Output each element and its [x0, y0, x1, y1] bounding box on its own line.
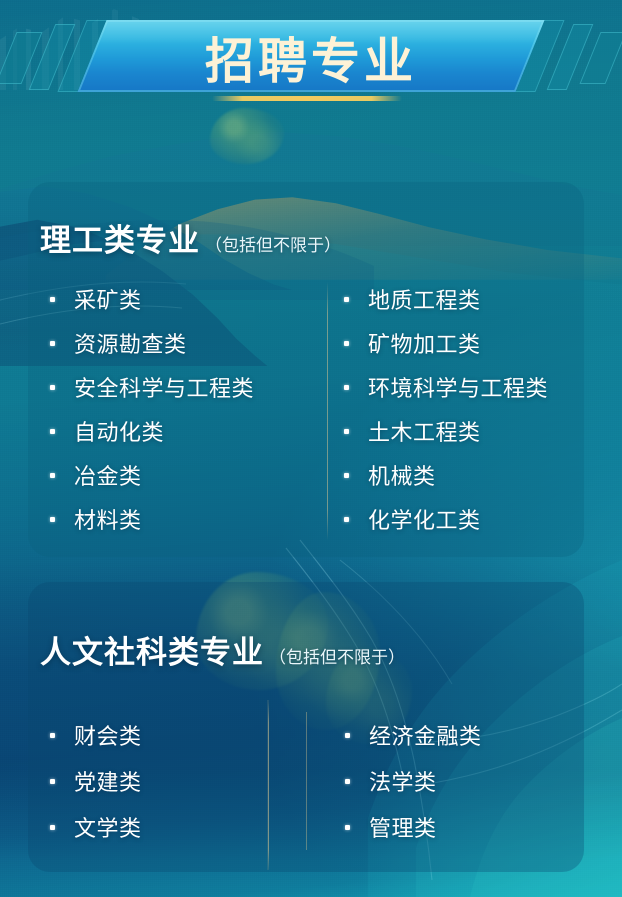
list-item-label: 财会类: [74, 719, 142, 751]
list-item[interactable]: 经济金融类: [347, 712, 584, 758]
list-item[interactable]: 采矿类: [28, 277, 306, 321]
square-bullet-icon: [50, 779, 55, 784]
list-item-label: 冶金类: [74, 459, 142, 491]
list-column-left: 财会类 党建类 文学类: [28, 712, 306, 850]
square-bullet-icon: [345, 779, 350, 784]
section-subtitle: （包括但不限于）: [205, 231, 341, 256]
page-title: 招聘专业: [0, 24, 622, 90]
list-item[interactable]: 化学化工类: [346, 497, 584, 541]
list-item-label: 安全科学与工程类: [74, 371, 254, 403]
section-title: 理工类专业: [40, 215, 200, 260]
list-item-label: 资源勘查类: [74, 327, 187, 359]
list-item[interactable]: 冶金类: [28, 453, 306, 497]
square-bullet-icon: [50, 429, 55, 434]
list-column-right: 地质工程类 矿物加工类 环境科学与工程类 土木工程类 机械类 化学化工类: [306, 277, 584, 541]
list-item-label: 管理类: [369, 811, 437, 843]
square-bullet-icon: [344, 517, 349, 522]
section-title: 人文社科类专业: [40, 627, 264, 672]
list-item-label: 矿物加工类: [368, 327, 481, 359]
square-bullet-icon: [50, 473, 55, 478]
square-bullet-icon: [344, 297, 349, 302]
list-item[interactable]: 法学类: [347, 758, 584, 804]
list-item[interactable]: 财会类: [28, 712, 306, 758]
list-item-label: 党建类: [74, 765, 142, 797]
list-item-label: 化学化工类: [368, 503, 481, 535]
section-header-humanities-social-science: 人文社科类专业 （包括但不限于）: [40, 627, 405, 672]
list-item-label: 经济金融类: [369, 719, 482, 751]
list-item[interactable]: 自动化类: [28, 409, 306, 453]
major-list-humanities-social-science: 财会类 党建类 文学类 经济金融类 法学类 管理类: [28, 712, 584, 850]
list-item-label: 土木工程类: [368, 415, 481, 447]
section-header-science-engineering: 理工类专业 （包括但不限于）: [40, 215, 341, 260]
title-banner: 招聘专业: [0, 18, 622, 94]
square-bullet-icon: [345, 825, 350, 830]
list-item[interactable]: 安全科学与工程类: [28, 365, 306, 409]
section-subtitle: （包括但不限于）: [269, 643, 405, 668]
square-bullet-icon: [50, 517, 55, 522]
list-item-label: 材料类: [74, 503, 142, 535]
square-bullet-icon: [344, 385, 349, 390]
list-item-label: 文学类: [74, 811, 142, 843]
square-bullet-icon: [50, 385, 55, 390]
list-item[interactable]: 党建类: [28, 758, 306, 804]
major-list-science-engineering: 采矿类 资源勘查类 安全科学与工程类 自动化类 冶金类 材料类 地质工程类 矿物…: [28, 277, 584, 541]
square-bullet-icon: [50, 341, 55, 346]
gold-underline-rule: [212, 96, 402, 101]
square-bullet-icon: [50, 733, 55, 738]
list-item[interactable]: 机械类: [346, 453, 584, 497]
square-bullet-icon: [344, 341, 349, 346]
list-item-label: 机械类: [368, 459, 436, 491]
list-column-right: 经济金融类 法学类 管理类: [306, 712, 584, 850]
list-item-label: 环境科学与工程类: [368, 371, 548, 403]
list-column-left: 采矿类 资源勘查类 安全科学与工程类 自动化类 冶金类 材料类: [28, 277, 306, 541]
list-item-label: 采矿类: [74, 283, 142, 315]
list-item[interactable]: 矿物加工类: [346, 321, 584, 365]
list-item[interactable]: 管理类: [347, 804, 584, 850]
list-item[interactable]: 地质工程类: [346, 277, 584, 321]
list-item-label: 自动化类: [74, 415, 164, 447]
square-bullet-icon: [344, 473, 349, 478]
list-item[interactable]: 文学类: [28, 804, 306, 850]
square-bullet-icon: [344, 429, 349, 434]
poster-canvas: 招聘专业 理工类专业 （包括但不限于） 采矿类 资源勘查类 安全科学与工程类 自…: [0, 0, 622, 897]
list-item-label: 地质工程类: [368, 283, 481, 315]
list-item-label: 法学类: [369, 765, 437, 797]
square-bullet-icon: [50, 825, 55, 830]
square-bullet-icon: [50, 297, 55, 302]
square-bullet-icon: [345, 733, 350, 738]
list-item[interactable]: 资源勘查类: [28, 321, 306, 365]
list-item[interactable]: 土木工程类: [346, 409, 584, 453]
list-item[interactable]: 环境科学与工程类: [346, 365, 584, 409]
list-item[interactable]: 材料类: [28, 497, 306, 541]
